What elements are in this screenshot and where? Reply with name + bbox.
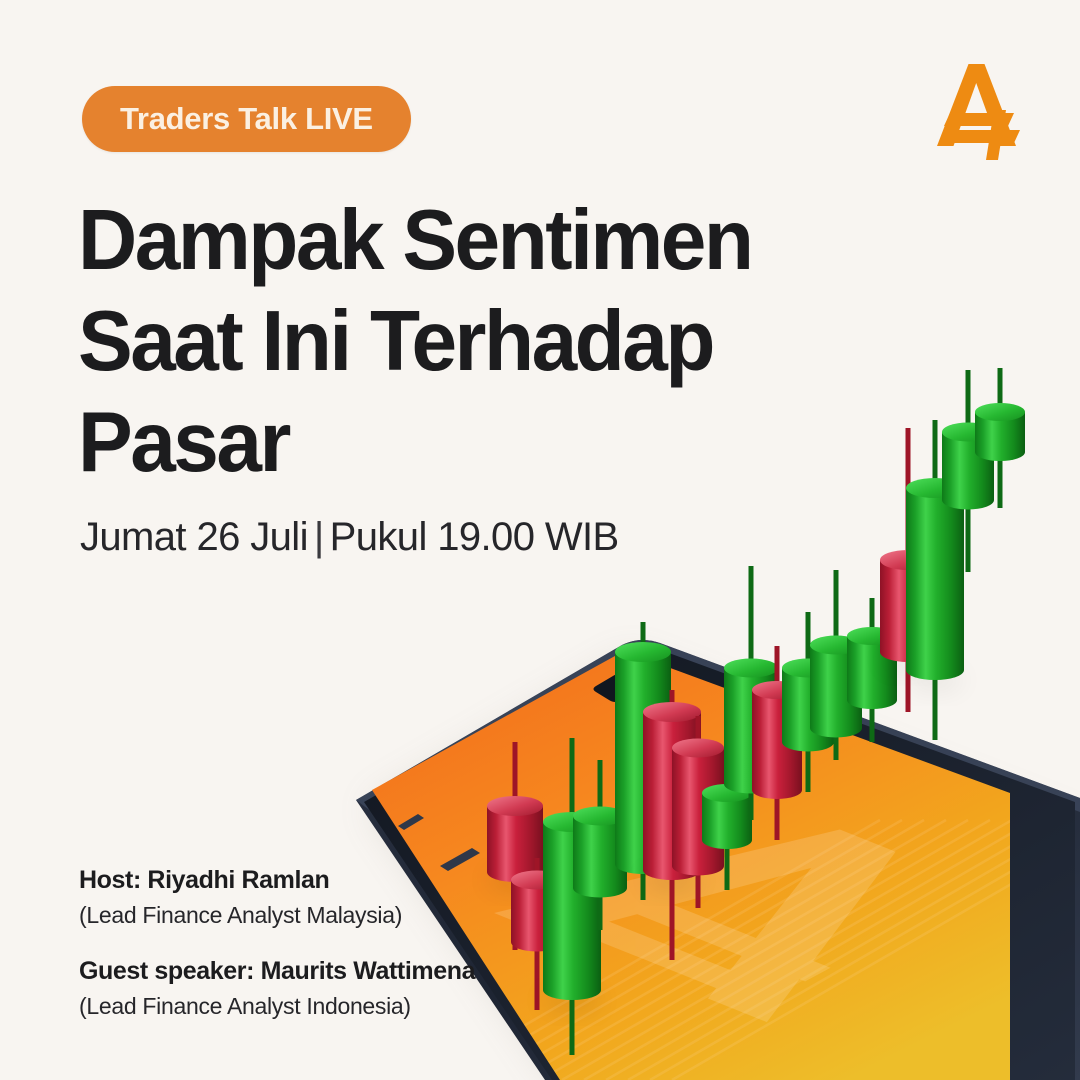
host-name: Host: Riyadhi Ramlan: [79, 866, 475, 895]
speaker-credits: Host: Riyadhi Ramlan (Lead Finance Analy…: [79, 866, 475, 1020]
promo-poster: Traders Talk LIVE Dampak Sentimen Saat I…: [0, 0, 1080, 1080]
guest-credit: Guest speaker: Maurits Wattimena (Lead F…: [79, 957, 475, 1020]
host-credit: Host: Riyadhi Ramlan (Lead Finance Analy…: [79, 866, 475, 929]
guest-role: (Lead Finance Analyst Indonesia): [79, 993, 475, 1020]
guest-name: Guest speaker: Maurits Wattimena: [79, 957, 475, 986]
host-role: (Lead Finance Analyst Malaysia): [79, 902, 475, 929]
